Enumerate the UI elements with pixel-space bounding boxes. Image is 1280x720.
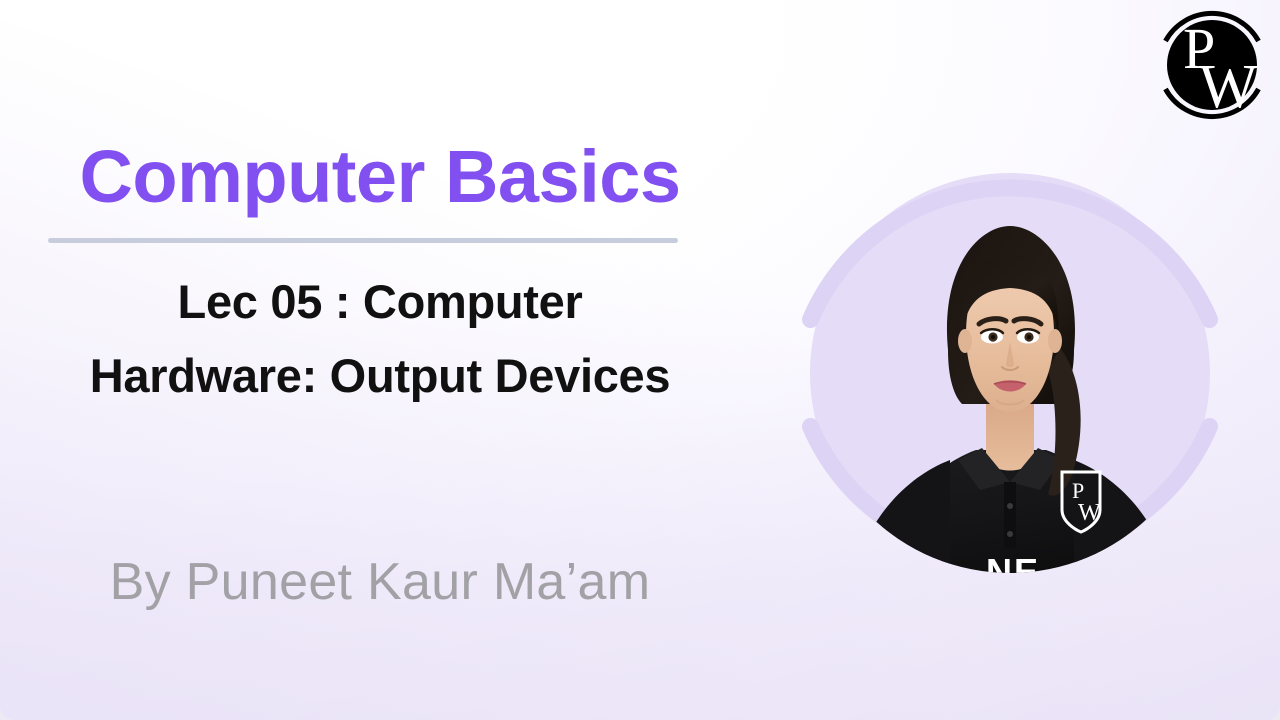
- instructor-byline: By Puneet Kaur Ma’am: [0, 552, 760, 612]
- instructor-portrait-badge: P W NE: [790, 138, 1230, 608]
- shirt-wordmark: NE: [986, 551, 1040, 592]
- lecture-title-slide: P W NE Computer Basics Lec 05 : Computer…: [0, 0, 1280, 720]
- lecture-subtitle: Lec 05 : Computer Hardware: Output Devic…: [0, 265, 760, 414]
- pw-logo: P W: [1153, 6, 1271, 124]
- svg-text:W: W: [1078, 500, 1101, 526]
- title-underline-rule: [48, 238, 678, 243]
- page-title: Computer Basics: [0, 140, 760, 214]
- slide-text-block: Computer Basics Lec 05 : Computer Hardwa…: [0, 140, 760, 414]
- pw-logo-letter-w: W: [1199, 53, 1258, 121]
- lecture-subtitle-line-1: Lec 05 : Computer: [18, 265, 742, 339]
- lecture-subtitle-line-2: Hardware: Output Devices: [18, 339, 742, 413]
